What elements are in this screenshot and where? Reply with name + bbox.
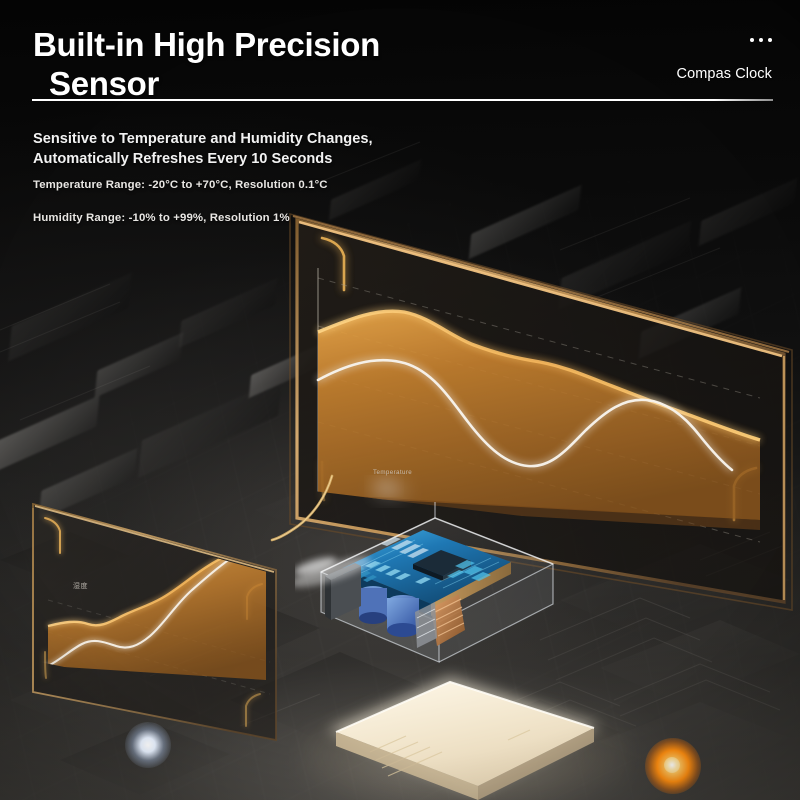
tagline: Sensitive to Temperature and Humidity Ch…	[33, 130, 373, 169]
page-title-line-2: Sensor	[33, 65, 473, 104]
spec-temperature-range: Temperature Range: -20°C to +70°C, Resol…	[33, 179, 328, 191]
header-divider	[32, 99, 773, 101]
scene-root: Built-in High PrecisionSensor Compas Clo…	[0, 0, 800, 800]
panel-humidity-label: 湿度	[73, 581, 88, 590]
illuminated-platform	[250, 660, 670, 800]
page-title-line-1: Built-in High Precision	[33, 26, 380, 63]
brand-name: Compas Clock	[677, 66, 772, 82]
gold-wire	[270, 470, 410, 590]
spec-humidity-range: Humidity Range: -10% to +99%, Resolution…	[33, 212, 290, 224]
page-title: Built-in High PrecisionSensor	[33, 26, 473, 103]
three-dots-icon	[750, 38, 772, 42]
page-header: Built-in High PrecisionSensor Compas Clo…	[0, 0, 800, 120]
